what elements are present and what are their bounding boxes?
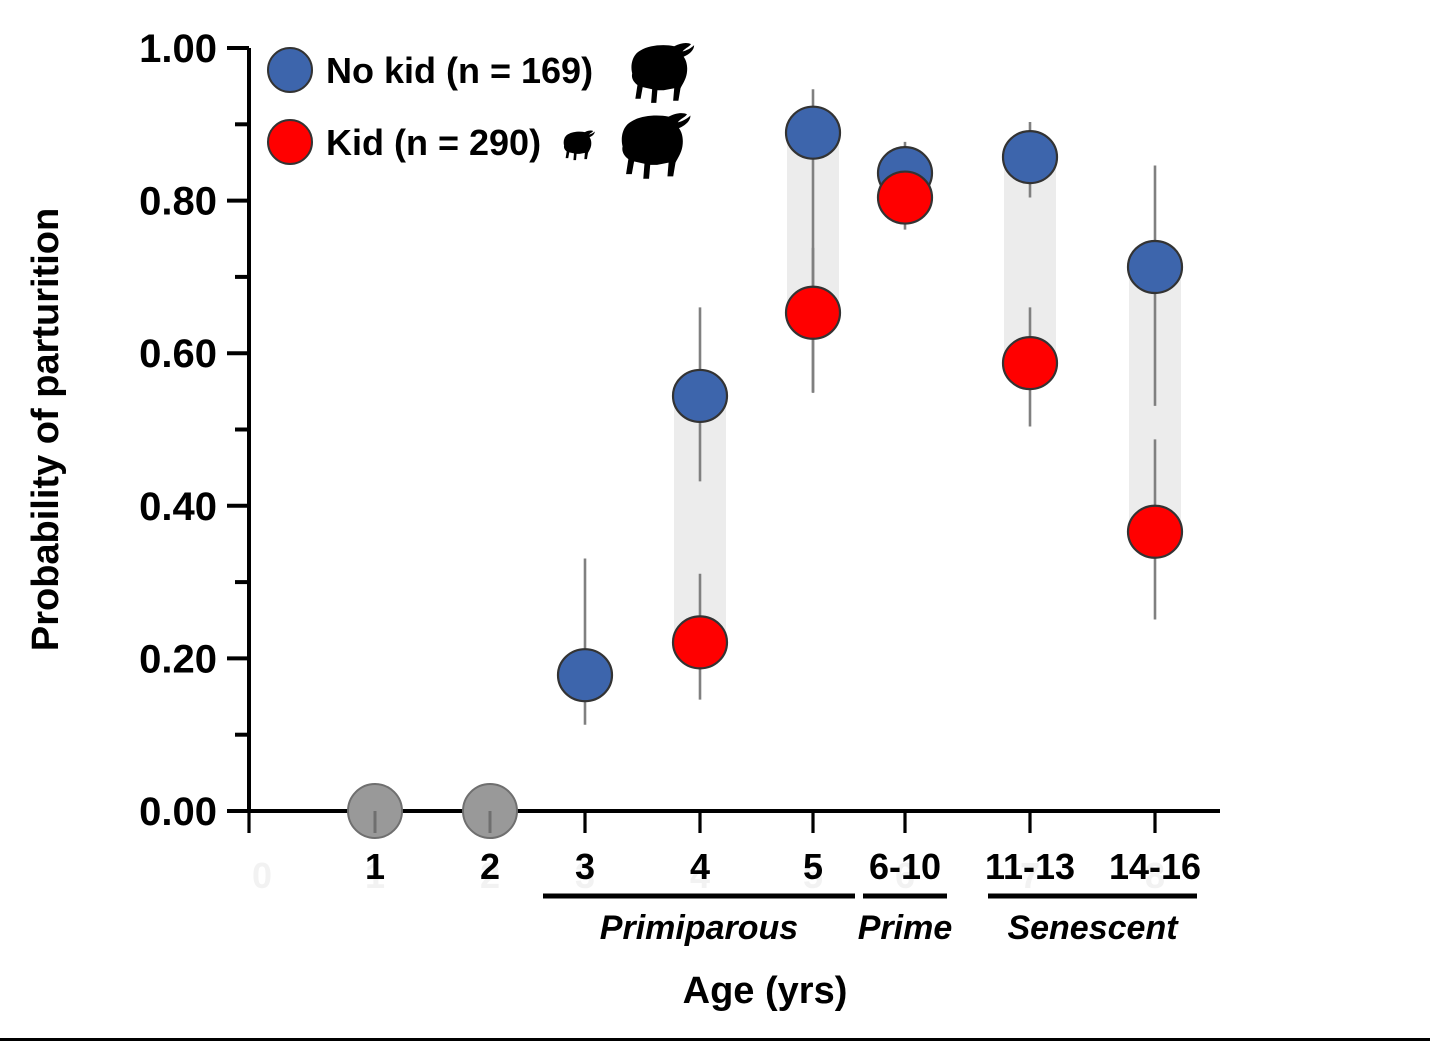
data-point-no-kid[interactable] bbox=[786, 107, 840, 159]
y-tick-label: 1.00 bbox=[139, 27, 217, 71]
y-axis-title: Probability of parturition bbox=[25, 208, 67, 651]
y-tick-label: 0.60 bbox=[139, 332, 217, 376]
legend-swatch-no-kid[interactable] bbox=[268, 48, 312, 92]
data-point-kid[interactable] bbox=[786, 287, 840, 339]
data-point-kid[interactable] bbox=[1128, 506, 1182, 558]
parturition-probability-chart: 0123456780.000.200.400.600.801.00123456-… bbox=[0, 0, 1430, 1041]
group-label: Prime bbox=[858, 909, 953, 947]
x-tick-label: 14-16 bbox=[1109, 846, 1201, 887]
data-point-no-kid[interactable] bbox=[1128, 241, 1182, 293]
y-tick-label: 0.20 bbox=[139, 637, 217, 681]
ghost-tick-label: 0 bbox=[252, 855, 272, 896]
group-label: Senescent bbox=[1007, 909, 1179, 947]
x-tick-label: 4 bbox=[690, 846, 710, 887]
legend-label: Kid (n = 290) bbox=[326, 122, 541, 163]
data-point-kid[interactable] bbox=[878, 172, 932, 224]
group-label: Primiparous bbox=[600, 909, 798, 947]
legend-label: No kid (n = 169) bbox=[326, 50, 593, 91]
data-point-no-kid[interactable] bbox=[673, 370, 727, 422]
adult-goat-icon bbox=[631, 43, 694, 103]
x-tick-label: 2 bbox=[480, 846, 500, 887]
data-point-no-kid[interactable] bbox=[558, 649, 612, 701]
kid-goat-icon bbox=[564, 130, 595, 160]
adult-goat-icon-kid-row bbox=[622, 113, 691, 179]
data-point-no-kid[interactable] bbox=[1003, 131, 1057, 183]
x-tick-label: 11-13 bbox=[985, 846, 1075, 887]
y-tick-label: 0.40 bbox=[139, 485, 217, 529]
x-axis-title: Age (yrs) bbox=[683, 970, 848, 1012]
y-tick-label: 0.00 bbox=[139, 790, 217, 834]
data-point-kid[interactable] bbox=[1003, 337, 1057, 389]
y-tick-label: 0.80 bbox=[139, 180, 217, 224]
x-tick-label: 3 bbox=[575, 846, 595, 887]
x-tick-label: 6-10 bbox=[869, 846, 941, 887]
figure-panel: 0123456780.000.200.400.600.801.00123456-… bbox=[0, 0, 1430, 1041]
x-tick-label: 1 bbox=[365, 846, 385, 887]
data-point-kid[interactable] bbox=[673, 616, 727, 668]
x-tick-label: 5 bbox=[803, 846, 823, 887]
legend-swatch-kid[interactable] bbox=[268, 120, 312, 164]
